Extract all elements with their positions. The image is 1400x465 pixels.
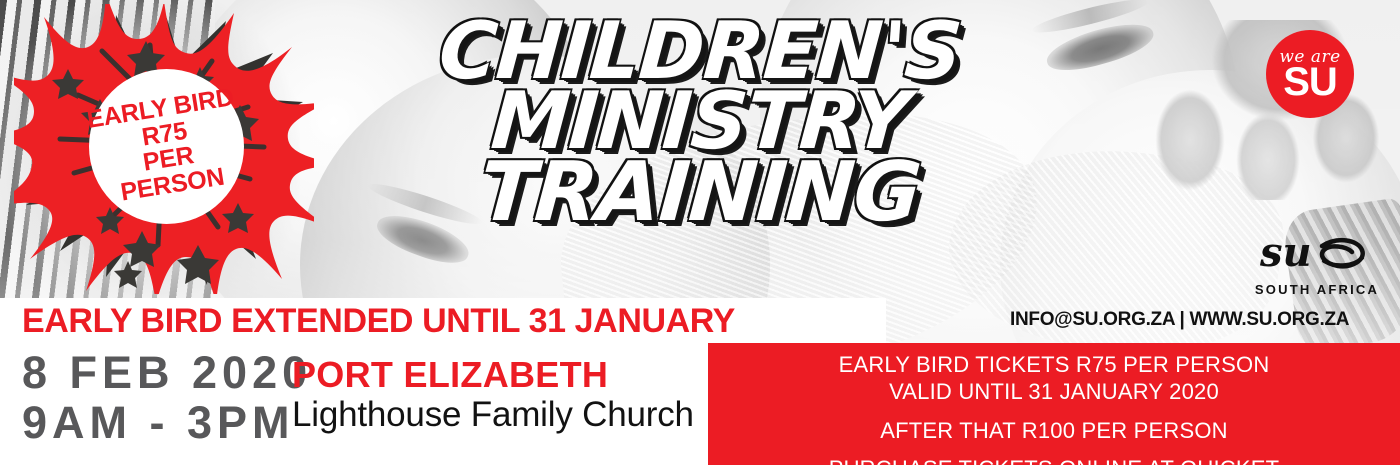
event-date: 8 FEB 2020: [22, 348, 312, 398]
we-are-su-logo: we are SU: [1266, 30, 1354, 118]
su-letters: su: [1259, 229, 1312, 276]
su-south-africa-label: SOUTH AFRICA: [1252, 282, 1382, 297]
event-time: 9AM - 3PM: [22, 398, 312, 448]
title-line-3: TRAINING: [427, 154, 973, 233]
badge-inner-circle: EARLY BIRD R75 PER PERSON: [89, 69, 244, 224]
su-wordmark-icon: su: [1252, 228, 1382, 281]
event-datetime: 8 FEB 2020 9AM - 3PM: [22, 348, 312, 449]
su-south-africa-logo: su SOUTH AFRICA: [1252, 228, 1382, 297]
ticket-info-line-3: AFTER THAT R100 PER PERSON: [880, 417, 1228, 444]
ticket-info-panel: EARLY BIRD TICKETS R75 PER PERSON VALID …: [708, 343, 1400, 465]
ticket-info-line-2: VALID UNTIL 31 JANUARY 2020: [889, 378, 1219, 405]
event-city: PORT ELIZABETH: [292, 356, 694, 394]
early-bird-extended-strip: EARLY BIRD EXTENDED UNTIL 31 JANUARY: [0, 298, 886, 345]
we-are-su-initials: SU: [1283, 64, 1337, 100]
event-venue: PORT ELIZABETH Lighthouse Family Church: [292, 356, 694, 434]
contact-info[interactable]: INFO@SU.ORG.ZA | WWW.SU.ORG.ZA: [1010, 309, 1349, 331]
early-bird-extended-text: EARLY BIRD EXTENDED UNTIL 31 JANUARY: [0, 302, 735, 341]
early-bird-badge: EARLY BIRD R75 PER PERSON: [14, 4, 314, 294]
event-venue-name: Lighthouse Family Church: [292, 395, 694, 434]
badge-text-group: EARLY BIRD R75 PER PERSON: [82, 84, 251, 209]
su-fish-logo-icon: su: [1252, 228, 1382, 276]
event-banner: EARLY BIRD R75 PER PERSON CHILDREN'S MIN…: [0, 0, 1400, 465]
ticket-info-line-1: EARLY BIRD TICKETS R75 PER PERSON: [839, 351, 1270, 378]
page-title: CHILDREN'S MINISTRY TRAINING: [430, 14, 970, 232]
ticket-info-line-4: PURCHASE TICKETS ONLINE AT QUICKET: [829, 455, 1280, 465]
